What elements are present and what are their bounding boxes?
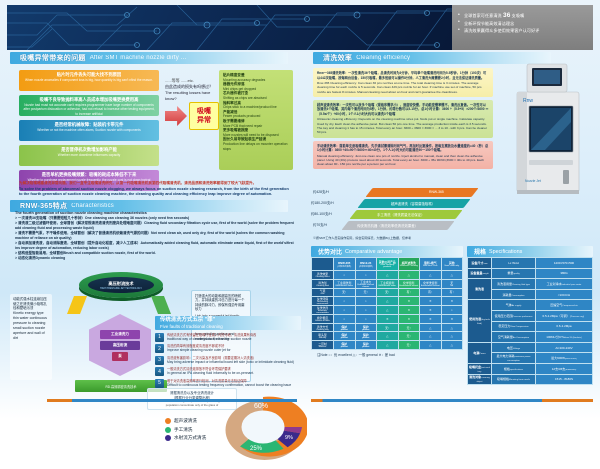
five-faults-title: 传统清洗方式五宗 "罪" Five faults of traditional … [155, 316, 301, 330]
table-header-row: RNW-365(水射流式清洗) RN12-24(水射流式清洗) 其他公司产品Ot… [312, 258, 463, 271]
table-row: 磨针粗度Erosion to tools ○○ ✕✕ ✕✕ [312, 315, 463, 324]
characteristic-item: > 清洗不需要气泵，不干噪件使用，全球首创（解决了普通清洗机依赖清洗气源的问题）… [15, 231, 297, 241]
problem-item: 是否晋停机次数增加影响产能 Whether more downtime infl… [19, 145, 159, 166]
fault-number: 5 [155, 379, 164, 388]
table-row: 免洗洗剂Economic consumables ○○ △✕ ✕○ [312, 306, 463, 315]
nozzle-anomaly-badge: 吸嘴 异常 [189, 102, 219, 130]
highlight-item-2: 全新环保节能高效清洁理念 [458, 20, 588, 28]
highlight-item-1: 全球首家可任意清洗 36 支吸嘴 [458, 12, 588, 20]
stack-label-0: 约428支/H [313, 189, 329, 194]
highlight-list: 全球首家可任意清洗 36 支吸嘴 全新环保节能高效清洁理念 清洗效果赢得众多使用… [458, 12, 588, 35]
fault-item: 2 清洗的简单有效程度或清洗度不够或不好Improve simple clean… [155, 344, 301, 353]
table-row: 清洗剂Cleaning fluid 工业用洗剂Environment value… [312, 279, 463, 288]
col-rnw365: RNW-365(水射流式清洗) [334, 258, 356, 271]
pie-legend: 超声波清洗 手工清洗 水射流方式清洗 [165, 418, 206, 444]
table-row: 清洗液 清洗液用量Cleaning fluid type 工业对净水Indust… [468, 279, 593, 290]
col-other-company: 其他公司产品Other company products [377, 258, 399, 271]
problem-item: 吸嘴不良导致抛料率高人员成本增加吸嘴更换费用高 Nozzle bad must … [19, 95, 159, 116]
consequence-list: 贴片精度变差 Mounting accuracy degrades 器器元件掉落… [219, 70, 293, 170]
arrow-down-left-icon [67, 296, 87, 314]
table-row: 清洗效果Cleaning effect ○○ △△ △△ [312, 271, 463, 280]
specifications-panel: 规格 Specifications 设备尺寸Size Lx WxH 1200×5… [467, 246, 593, 385]
footer-rule-right [311, 399, 593, 402]
stack-name-1: 超声波清洗（容易腐蚀吸嘴） [391, 201, 435, 206]
comparative-note: 注Note ○：优 excellent △：一般 general ✕：差 bad [311, 350, 463, 357]
svg-text:Rnw: Rnw [523, 98, 533, 104]
table-row: 吸头型Industry 保护protect保护protect △无↑ △△ [312, 332, 463, 341]
comparative-advantage-table: RNW-365(水射流式清洗) RN12-24(水射流式清洗) 其他公司产品Ot… [311, 257, 463, 350]
legend-item: 手工清洗 [165, 427, 206, 433]
table-row: 吸嘴托盘(not work tray 规格specifications 12支/… [468, 363, 593, 374]
efficiency-box-manual: 手动清洗效率：首能单支逐吸嘴清洗，先手清拭擦清除时间气气，再加时反复操作，按每支… [313, 141, 493, 170]
brochure-page: 全球首家可任意清洗 36 支吸嘴 全新环保节能高效清洁理念 清洗效果赢得众多使用… [0, 0, 600, 419]
pie-label-1: 25% [250, 446, 263, 452]
table-row: 清洗对象Cleaning object 吸嘴规格Mounting form no… [468, 374, 593, 385]
stack-name-0: RNW-365 [429, 190, 444, 194]
section-title-problems: 吸嘴异常带来的问题 After SMT machine nozzle dirty… [10, 52, 288, 64]
machine-photo: Rnw Nozzle Jet [501, 62, 593, 197]
fault-item: 4 一般清洗方式清洗液排放不符合环境保护要求In general an IPA … [155, 367, 301, 376]
stack-slab-0 [365, 188, 478, 197]
col-rn1224: RN12-24(水射流式清洗) [355, 258, 377, 271]
solution-paragraph: 为解决吸嘴堵塞清洗异常问题，我们一直专注吸嘴清洗研究，从第一代吸嘴清洗机到第四代… [19, 181, 293, 197]
table-row: 电源Power 电压Voltage AC100-240V [468, 342, 593, 353]
highlight-item-3: 清洗效果赢得众多使用效果客户认可好评 [458, 27, 588, 35]
fault-number: 2 [155, 344, 164, 353]
pie-label-0: 60% [254, 403, 268, 410]
five-faults-panel: 传统清洗方式五宗 "罪" Five faults of traditional … [155, 316, 301, 388]
table-row: 免洗环保No washing environment ○○ △✕ ✕✕ [312, 297, 463, 306]
efficiency-box-ultrasonic: 超声波清洗效率：一次性可以放多个吸嘴（规格序需求小），速度较快慢，手动能变慢率慢… [313, 100, 493, 138]
fault-number: 4 [155, 367, 164, 376]
arrow-right-icon [165, 106, 187, 126]
section-title-en: After SMT machine nozzle dirty ... [90, 55, 187, 61]
specifications-table: 设备尺寸Size Lx WxH 1200×570×500 设备重量weight … [467, 257, 593, 385]
fault-item: 3 清洗液有害影响：二次污染及不良影响（需要定期补入清洗液）May bring … [155, 356, 301, 365]
stack-name-2: 手工清洗（清洗质量无法保证） [377, 212, 424, 217]
comparative-advantage-title: 优势对比 Comparative advantage [311, 246, 463, 257]
stack-name-3: 传统清洗机器（清洗效率低清洗效果差） [357, 223, 418, 228]
problem-item: 是否经常机械故障：贴装机卡带元件 Whether or not the mach… [19, 120, 159, 141]
throughput-stack-chart: 约428支/H 约180-200支/H 约80-100支/H 约70支/H RN… [311, 188, 491, 234]
fault-number: 1 [155, 333, 164, 342]
stack-note: ※按SMT工作人员实操作实际，综合实际情况，大数据8以上数据，仅参考 [313, 236, 411, 240]
fault-number: 3 [155, 356, 164, 365]
efficiency-boxes: Rnw一365清洗效率：一次性清洗36个吸嘴，总清洗时间为3分钟，平均单个吸嘴清… [313, 68, 493, 172]
efficiency-box-machine: Rnw一365清洗效率：一次性清洗36个吸嘴，总清洗时间为3分钟，平均单个吸嘴清… [313, 68, 493, 97]
table-row: 清洗方式Cleaning way 保护protect保护protect 无↑无↑… [312, 323, 463, 332]
col-ultrasonic: 超声波清洗Ultrasonic Cleaning [398, 258, 420, 271]
table-row: 设备尺寸Size Lx WxH 1200×570×500 [468, 258, 593, 269]
footer-rule-left [47, 399, 297, 402]
right-page: 清洗效率 Cleaning efficiency Rnw一365清洗效率：一次性… [307, 50, 595, 414]
characteristics-list: The fourth generation of suction nozzle … [15, 210, 297, 261]
jet-tech-disc: 高压射流技术 HIGH PRESSURE JET TECHNOLOGY [79, 272, 163, 298]
table-row: 设备重量weight 重量quality 380G [468, 268, 593, 279]
diagram-left-caption: 动能式强水柱连续加压使之在清洗微小吸嘴孔径和壁垢污渍 Kinetic energ… [10, 294, 52, 380]
table-row: 二层材Material 保护protect保护protect △无↑ △△ [312, 340, 463, 349]
col-empty [312, 258, 334, 271]
legend-item: 水射流方式清洗 [165, 435, 206, 441]
col-other: 其他Sonic undo only [441, 258, 463, 271]
problem-list: 贴片时元件丢失可能大找不到原因 When nozzle anomalies if… [19, 70, 159, 195]
comparative-advantage-panel: 优势对比 Comparative advantage RNW-365(水射流式清… [311, 246, 463, 357]
left-page: 吸嘴异常带来的问题 After SMT machine nozzle dirty… [7, 50, 301, 414]
fault-item: 1 传统清洗方式有残留在吸嘴行径或入内的污垢，清洗效果有待改traditiona… [155, 333, 301, 342]
comparative-advantage-body: 清洗效果Cleaning effect ○○ △△ △△ 清洗剂Cleaning… [312, 271, 463, 350]
arrow-down-right-icon [151, 296, 171, 314]
header-highlights: 全球首家可任意清洗 36 支吸嘴 全新环保节能高效清洁理念 清洗效果赢得众多使用… [452, 5, 593, 50]
section-title-cn: 吸嘴异常带来的问题 [20, 53, 86, 63]
table-row: 使用洗液(dry,tools fluid) 气体Air supply 压缩空气C… [468, 300, 593, 311]
svg-text:Nozzle Jet: Nozzle Jet [525, 179, 541, 183]
characteristic-item: > 动态化清洗Dynamic cleaning [15, 256, 297, 261]
problem-item: 贴片时元件丢失可能大找不到原因 When nozzle anomalies if… [19, 70, 159, 91]
characteristic-item: > 自动添加清洗液，自动消除废液，全球首创（提升自动化程度，减少人工成本）Aut… [15, 241, 297, 251]
col-solvent-gas: 溶剂+喷气Sole-vent +Gas [420, 258, 442, 271]
stack-label-2: 约80-100支/H [311, 211, 332, 216]
stack-label-3: 约70支/H [313, 222, 327, 227]
mid-question: ......等等 ......etc. 由此造成的损失有吗想过？ The res… [165, 78, 223, 102]
fault-item: 5 难于对清洗液高频率进行检测，对清洗质量无法验证保障Difficult to … [155, 379, 301, 388]
table-row: 气源Gas 无↑无↑ 无↑有↑ 有↑有↑ [312, 288, 463, 297]
stack-label-1: 约180-200支/H [311, 200, 334, 205]
cleaning-machine-icon: Rnw Nozzle Jet [501, 62, 593, 197]
pie-label-2: 9% [285, 435, 293, 441]
characteristic-item: > 清洗液二级过滤循环使用，全球首创（解决常规清洗液清洗剂废弃处理难度问题）Cl… [15, 221, 297, 231]
hexagon-core: 工业清洗力 高压射流 泵 [89, 314, 151, 376]
specifications-title: 规格 Specifications [467, 246, 593, 257]
